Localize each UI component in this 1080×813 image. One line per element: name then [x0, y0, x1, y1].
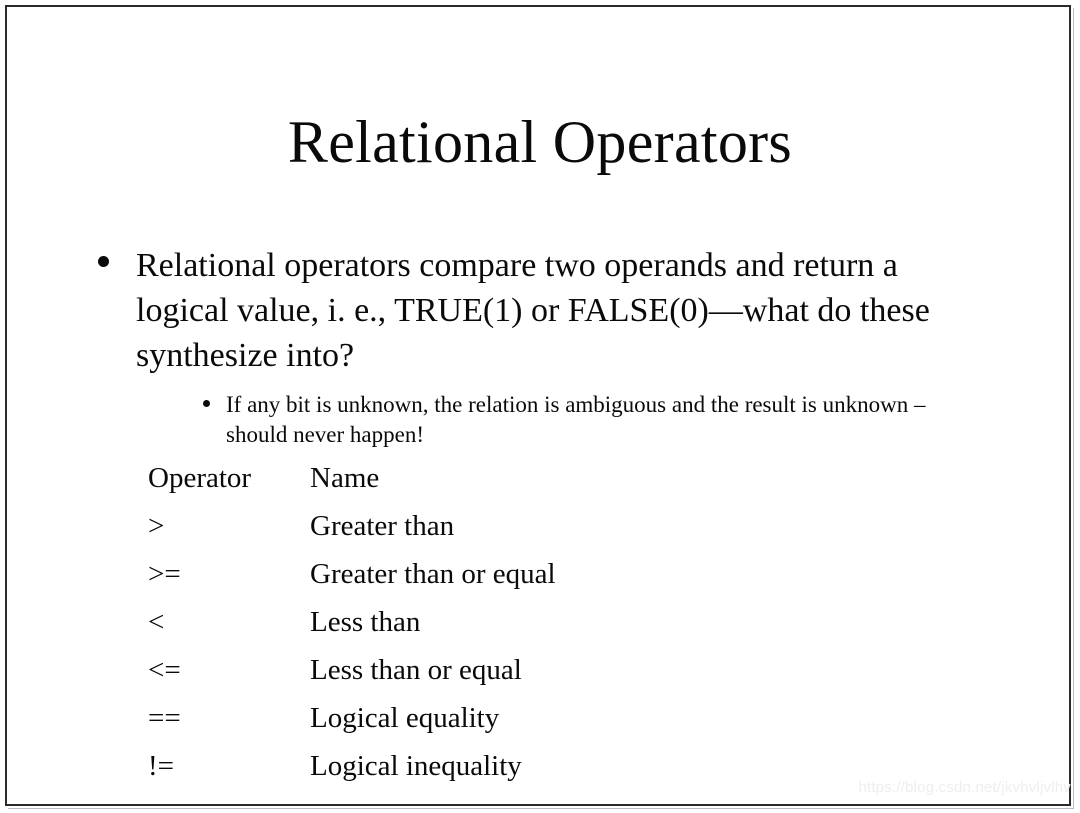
bullet-level2: If any bit is unknown, the relation is a… [200, 390, 990, 450]
table-row: <= Less than or equal [148, 653, 556, 701]
table-row: > Greater than [148, 509, 556, 557]
table-row: >= Greater than or equal [148, 557, 556, 605]
column-header-operator: Operator [148, 461, 310, 509]
cell-name: Greater than [310, 509, 556, 557]
table-row: == Logical equality [148, 701, 556, 749]
watermark: https://blog.csdn.net/jkvhvljvlhv [858, 779, 1071, 797]
bullet-dot-small-icon [203, 400, 210, 407]
cell-operator: <= [148, 653, 310, 701]
cell-operator: >= [148, 557, 310, 605]
slide-canvas: Relational Operators Relational operator… [0, 0, 1080, 813]
page-title: Relational Operators [0, 108, 1080, 176]
operator-table-body: Operator Name > Greater than >= Greater … [148, 461, 556, 797]
bullet-level1-text: Relational operators compare two operand… [136, 243, 976, 378]
cell-operator: > [148, 509, 310, 557]
cell-name: Less than [310, 605, 556, 653]
operator-table: Operator Name > Greater than >= Greater … [148, 461, 556, 797]
cell-operator: != [148, 749, 310, 797]
bullet-level1: Relational operators compare two operand… [96, 243, 976, 378]
table-row: != Logical inequality [148, 749, 556, 797]
bullet-dot-icon [98, 256, 109, 267]
table-header-row: Operator Name [148, 461, 556, 509]
cell-name: Less than or equal [310, 653, 556, 701]
cell-operator: < [148, 605, 310, 653]
cell-name: Logical inequality [310, 749, 556, 797]
cell-name: Logical equality [310, 701, 556, 749]
cell-name: Greater than or equal [310, 557, 556, 605]
table-row: < Less than [148, 605, 556, 653]
bullet-level2-text: If any bit is unknown, the relation is a… [226, 390, 990, 450]
cell-operator: == [148, 701, 310, 749]
column-header-name: Name [310, 461, 556, 509]
